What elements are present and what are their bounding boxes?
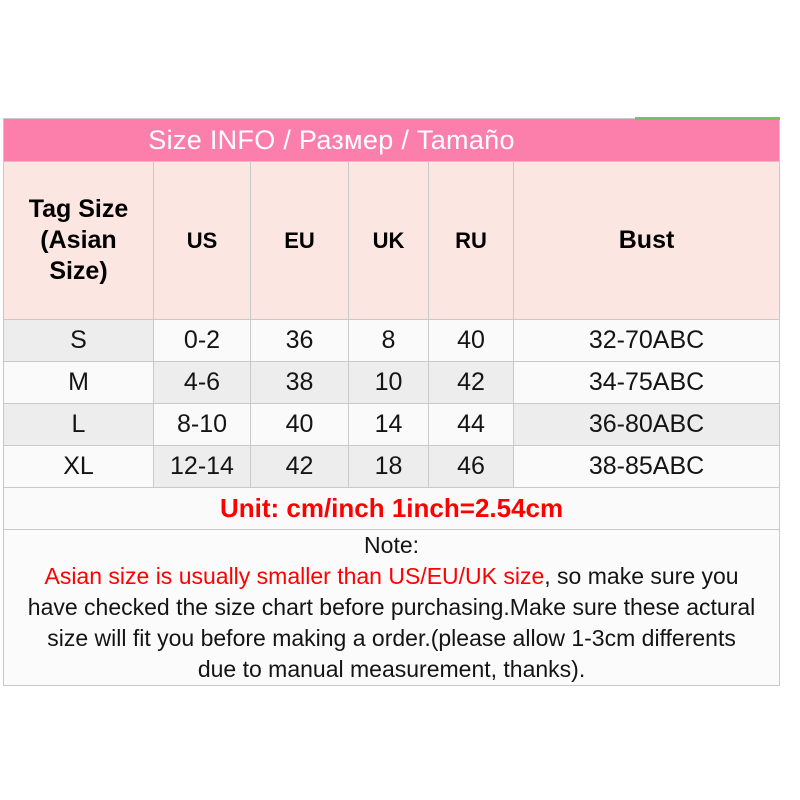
- header-tag-size-line1: Tag Size: [4, 194, 153, 225]
- header-eu: EU: [251, 162, 349, 320]
- note-row: Note: Asian size is usually smaller than…: [4, 530, 780, 686]
- cell-bust-s: 32-70ABC: [514, 320, 780, 362]
- cell-tag-m: M: [4, 362, 154, 404]
- cell-ru-s: 40: [429, 320, 514, 362]
- header-bust: Bust: [514, 162, 780, 320]
- cell-bust-m: 34-75ABC: [514, 362, 780, 404]
- note-line-2-black: , so make sure you: [544, 563, 738, 589]
- header-tag-size: Tag Size (Asian Size): [4, 162, 154, 320]
- cell-us-xl: 12-14: [154, 446, 251, 488]
- note-line-2: Asian size is usually smaller than US/EU…: [4, 561, 779, 592]
- cell-ru-l: 44: [429, 404, 514, 446]
- column-header-row: Tag Size (Asian Size) US EU UK RU Bust: [4, 162, 780, 320]
- cell-us-l: 8-10: [154, 404, 251, 446]
- size-chart-page: Size INFO / Размер / Tamaño Tag Size (As…: [0, 0, 800, 800]
- cell-uk-m: 10: [349, 362, 429, 404]
- title-bar: Size INFO / Размер / Tamaño: [4, 119, 780, 162]
- cell-eu-l: 40: [251, 404, 349, 446]
- note-label: Note:: [4, 530, 779, 561]
- cell-bust-xl: 38-85ABC: [514, 446, 780, 488]
- unit-note: Unit: cm/inch 1inch=2.54cm: [4, 488, 780, 530]
- header-uk: UK: [349, 162, 429, 320]
- note-line-3: have checked the size chart before purch…: [4, 592, 779, 623]
- table-title-row: Size INFO / Размер / Tamaño: [4, 119, 780, 162]
- cell-tag-s: S: [4, 320, 154, 362]
- cell-ru-xl: 46: [429, 446, 514, 488]
- cell-us-s: 0-2: [154, 320, 251, 362]
- header-tag-size-line3: Size): [4, 256, 153, 287]
- table-row: XL 12-14 42 18 46 38-85ABC: [4, 446, 780, 488]
- page-title: Size INFO / Размер / Tamaño: [4, 119, 779, 161]
- note-block: Note: Asian size is usually smaller than…: [4, 530, 780, 686]
- cell-bust-l: 36-80ABC: [514, 404, 780, 446]
- cell-tag-l: L: [4, 404, 154, 446]
- table-row: L 8-10 40 14 44 36-80ABC: [4, 404, 780, 446]
- cell-uk-l: 14: [349, 404, 429, 446]
- note-line-4: size will fit you before making a order.…: [4, 623, 779, 654]
- cell-tag-xl: XL: [4, 446, 154, 488]
- header-ru: RU: [429, 162, 514, 320]
- table-row: S 0-2 36 8 40 32-70ABC: [4, 320, 780, 362]
- cell-eu-m: 38: [251, 362, 349, 404]
- cell-ru-m: 42: [429, 362, 514, 404]
- note-line-2-red: Asian size is usually smaller than US/EU…: [44, 563, 544, 589]
- header-us: US: [154, 162, 251, 320]
- header-tag-size-line2: (Asian: [4, 225, 153, 256]
- cell-eu-xl: 42: [251, 446, 349, 488]
- cell-us-m: 4-6: [154, 362, 251, 404]
- cell-uk-xl: 18: [349, 446, 429, 488]
- top-green-accent-bar: [635, 117, 780, 120]
- note-line-5: due to manual measurement, thanks).: [4, 654, 779, 685]
- cell-eu-s: 36: [251, 320, 349, 362]
- unit-row: Unit: cm/inch 1inch=2.54cm: [4, 488, 780, 530]
- table-row: M 4-6 38 10 42 34-75ABC: [4, 362, 780, 404]
- size-info-table: Size INFO / Размер / Tamaño Tag Size (As…: [3, 118, 780, 686]
- cell-uk-s: 8: [349, 320, 429, 362]
